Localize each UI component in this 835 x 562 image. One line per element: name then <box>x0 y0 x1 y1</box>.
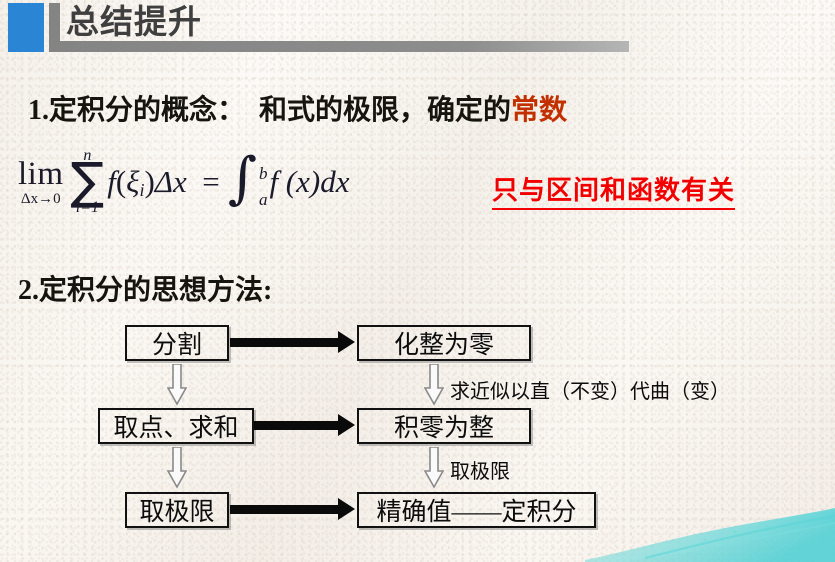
flow-box-row1-left[interactable]: 分割 <box>125 325 229 361</box>
flow-down-arrow-right-2-icon <box>424 447 444 489</box>
flow-annotation-1: 求近似以直（不变）代曲（变） <box>450 375 730 404</box>
flow-arrow-row2-head-icon <box>338 414 355 436</box>
flow-box-row1-right[interactable]: 化整为零 <box>357 325 531 361</box>
flow-down-arrow-left-1-icon <box>167 364 187 406</box>
flow-box-row2-right[interactable]: 积零为整 <box>357 408 531 444</box>
flow-arrow-row3-head-icon <box>338 498 355 520</box>
flow-down-arrow-right-1-icon <box>424 364 444 406</box>
thought-method-flowchart: 分割 化整为零 求近似以直（不变）代曲（变） 取点、求和 积零为整 取极限 取极… <box>0 0 835 562</box>
flow-arrow-row3 <box>230 505 338 514</box>
flow-arrow-row1 <box>230 338 338 347</box>
flow-box-row2-left[interactable]: 取点、求和 <box>98 408 254 444</box>
flow-box-row3-right[interactable]: 精确值——定积分 <box>357 492 596 528</box>
flow-box-row3-left[interactable]: 取极限 <box>125 492 229 528</box>
flow-arrow-row1-head-icon <box>338 331 355 353</box>
flow-down-arrow-left-2-icon <box>167 447 187 489</box>
flow-arrow-row2 <box>254 421 338 430</box>
flow-annotation-2: 取极限 <box>450 455 510 484</box>
